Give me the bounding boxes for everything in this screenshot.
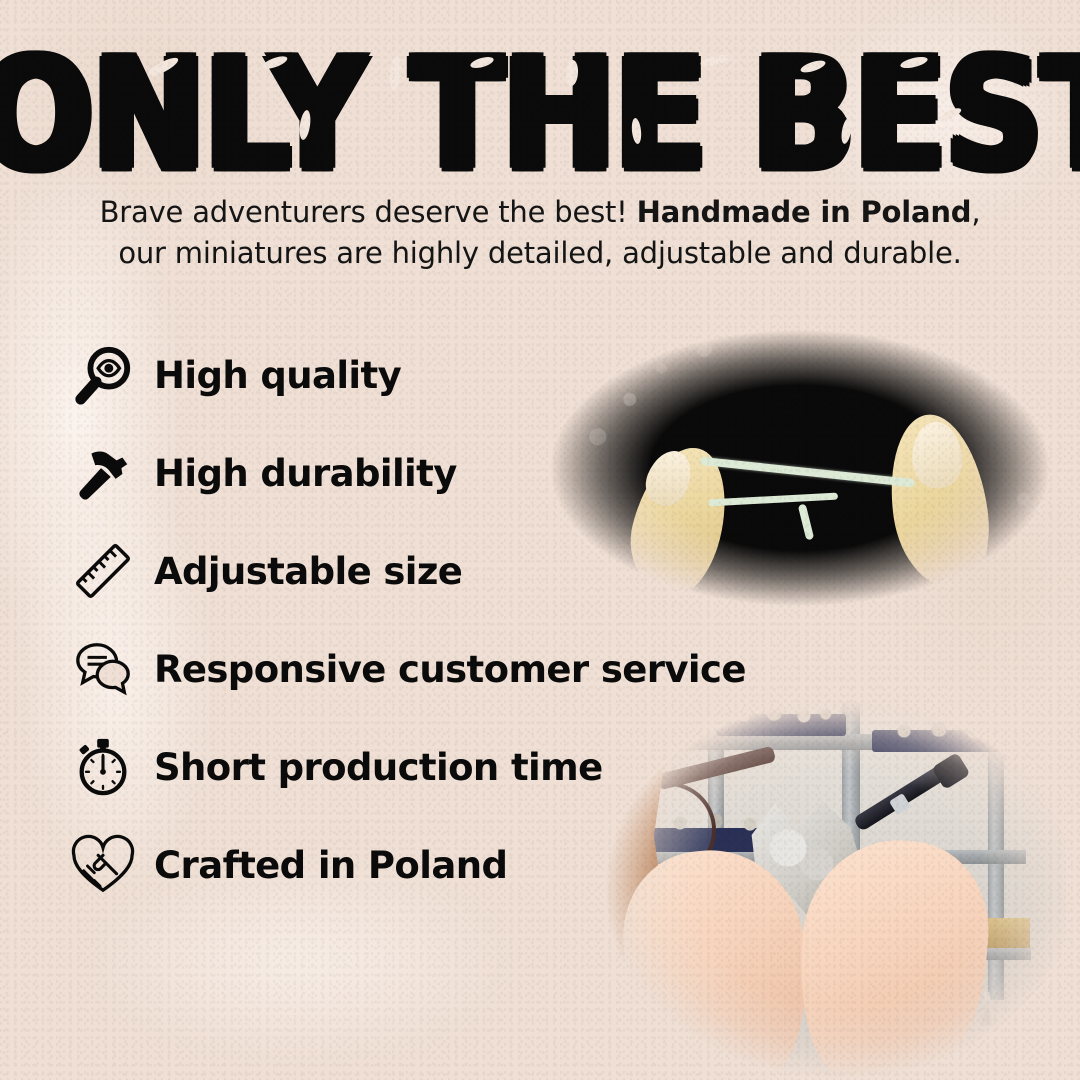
- subtitle-line-2: our miniatures are highly detailed, adju…: [118, 236, 961, 270]
- feature-label: High quality: [154, 354, 401, 397]
- hammer-icon: [66, 437, 140, 509]
- magnifier-eye-icon: [66, 339, 140, 411]
- speech-bubbles-icon: [66, 633, 140, 705]
- ruler-icon: [66, 535, 140, 607]
- handshake-heart-icon: [66, 829, 140, 901]
- subtitle-lead: Brave adventurers deserve the best!: [100, 195, 637, 229]
- poster: ONLY THE BEST Brave adventurers deserve …: [0, 0, 1080, 1080]
- miniature-part-ring: [540, 318, 562, 338]
- photo-hands-painting-dragon-miniature: [596, 700, 1066, 1078]
- subtitle-emphasis: Handmade in Poland: [637, 195, 972, 229]
- subtitle: Brave adventurers deserve the best! Hand…: [90, 192, 990, 274]
- miniature-bits-top: [720, 706, 840, 724]
- feature-label: Adjustable size: [154, 550, 462, 593]
- stopwatch-icon: [66, 731, 140, 803]
- feature-label: Short production time: [154, 746, 603, 789]
- feature-label: High durability: [154, 452, 457, 495]
- photo-fingers-holding-miniature-part: [540, 318, 1060, 618]
- feature-label: Responsive customer service: [154, 648, 746, 691]
- page-title: ONLY THE BEST: [0, 38, 1080, 191]
- subtitle-tail: ,: [971, 195, 980, 229]
- feature-label: Crafted in Poland: [154, 844, 507, 887]
- miniature-bits-right: [876, 722, 1016, 740]
